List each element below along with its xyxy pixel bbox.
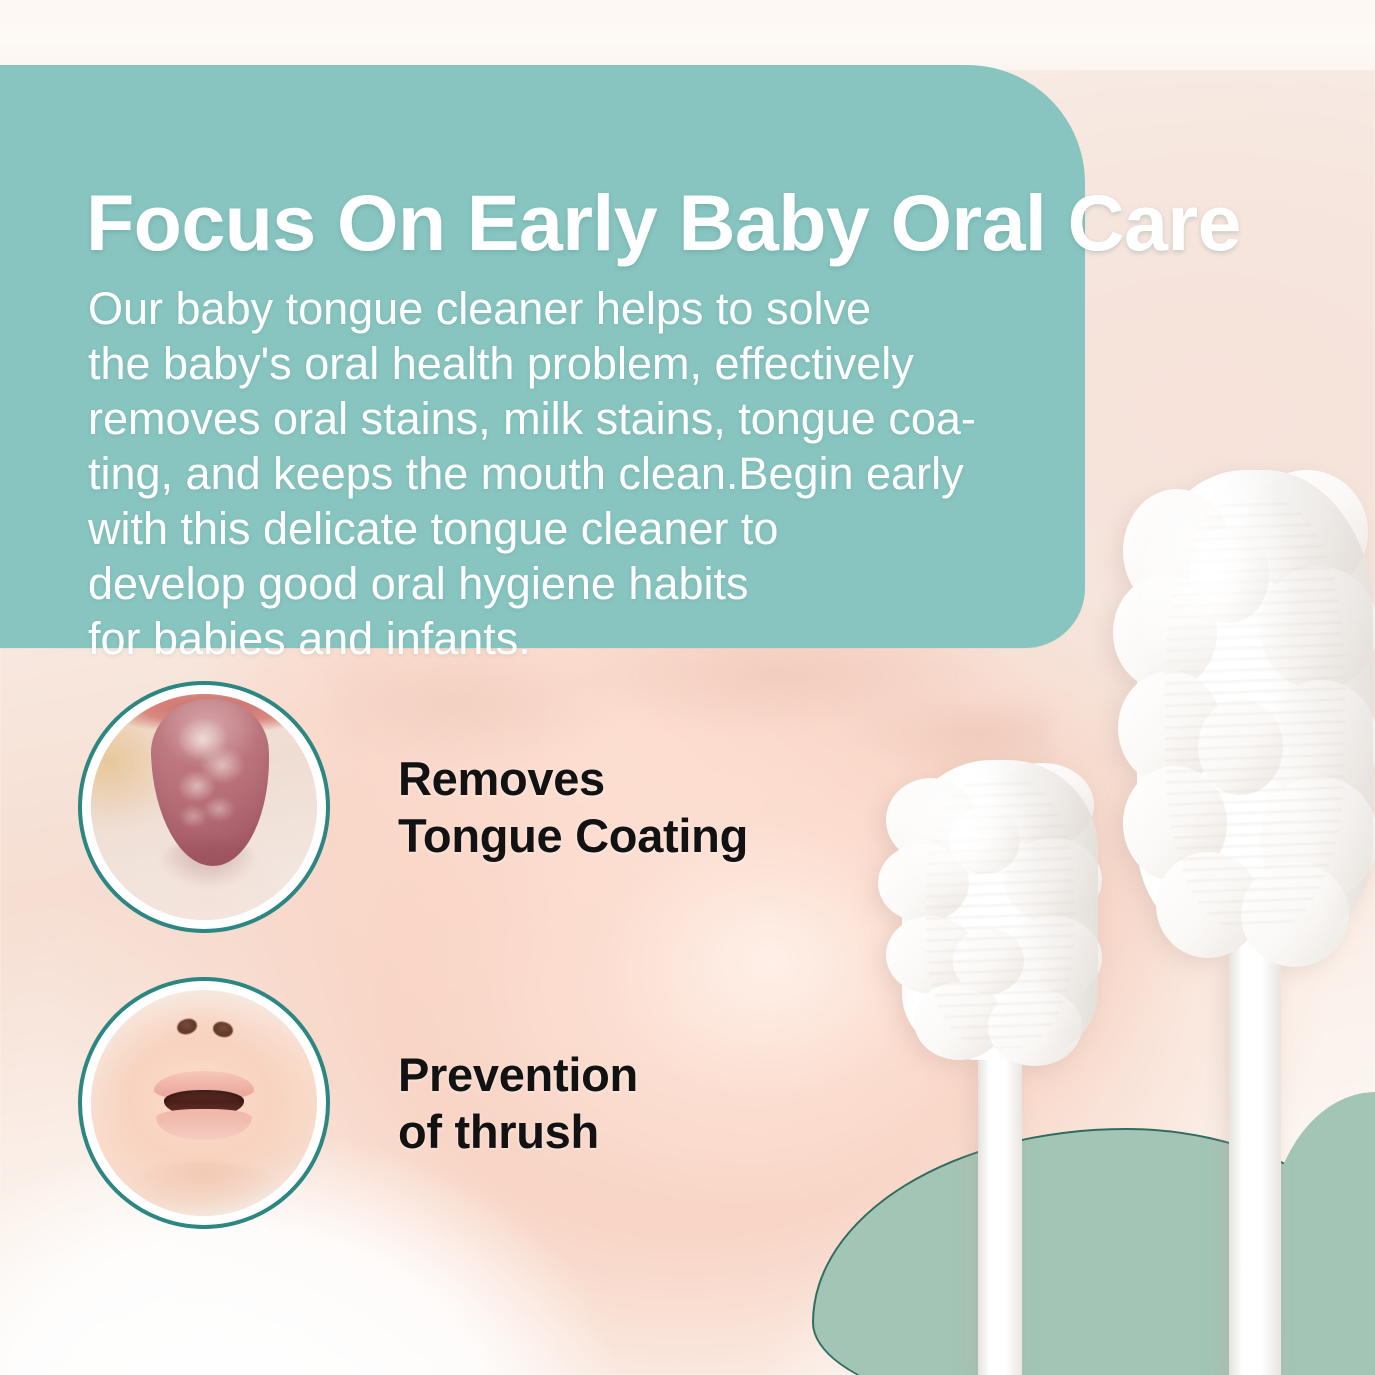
feature-label-line: Tongue Coating (398, 807, 748, 864)
product-swab-front (900, 760, 1100, 1375)
baby-chin (132, 1162, 277, 1212)
panel-description: Our baby tongue cleaner helps to solve t… (88, 281, 1078, 666)
description-line: the baby's oral health problem, effectiv… (88, 336, 1078, 391)
feature-label: Prevention of thrush (398, 1046, 638, 1160)
swab-gauze-head (902, 760, 1098, 1060)
feature-item-removes-tongue-coating: Removes Tongue Coating (78, 681, 748, 933)
page-title: Focus On Early Baby Oral Care (86, 183, 1241, 262)
feature-photo-frame (78, 681, 330, 933)
description-line: Our baby tongue cleaner helps to solve (88, 281, 1078, 336)
coated-tongue-photo (91, 694, 317, 920)
tongue-tip-shadow (159, 839, 258, 889)
swab-handle (1229, 930, 1281, 1375)
lower-lip (156, 1109, 251, 1140)
gauze-shading (1137, 470, 1373, 948)
baby-lips (154, 1071, 253, 1139)
feature-label-line: Prevention (398, 1046, 638, 1103)
feature-item-prevention-of-thrush: Prevention of thrush (78, 977, 638, 1229)
description-line: develop good oral hygiene habits (88, 556, 1078, 611)
description-line: ting, and keeps the mouth clean.Begin ea… (88, 446, 1078, 501)
feature-photo-frame (78, 977, 330, 1229)
description-line: removes oral stains, milk stains, tongue… (88, 391, 1078, 446)
feature-label-line: Removes (398, 750, 748, 807)
description-line: with this delicate tongue cleaner to (88, 501, 1078, 556)
baby-open-mouth-photo (91, 990, 317, 1216)
swab-gauze-head (1137, 470, 1373, 948)
gauze-shading (902, 760, 1098, 1060)
swab-handle (978, 1045, 1022, 1375)
product-swab-back (1135, 470, 1375, 1375)
product-infographic: Focus On Early Baby Oral Care Our baby t… (0, 0, 1375, 1375)
feature-label-line: of thrush (398, 1103, 638, 1160)
description-line: for babies and infants. (88, 611, 1078, 666)
baby-nose (152, 992, 256, 1060)
top-cream-band (0, 0, 1375, 70)
feature-label: Removes Tongue Coating (398, 750, 748, 864)
headline-panel: Focus On Early Baby Oral Care Our baby t… (0, 65, 1085, 648)
